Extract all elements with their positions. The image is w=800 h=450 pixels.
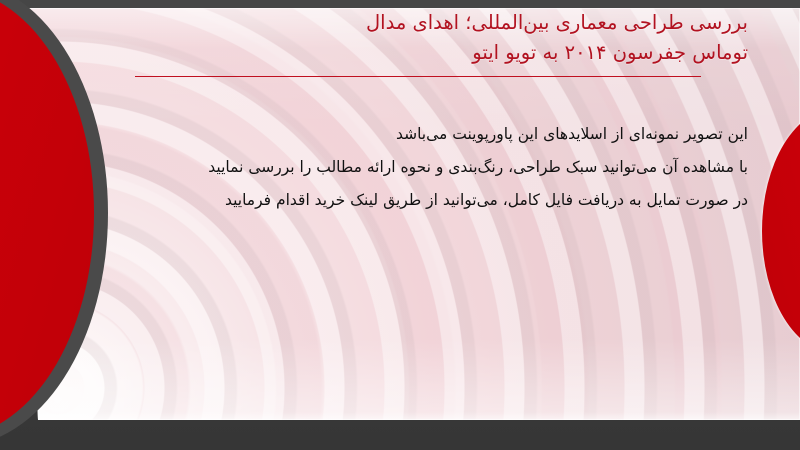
slide-title-line-1: بررسی طراحی معماری بین‌المللی؛ اهدای مدا… — [108, 8, 748, 38]
slide-title: بررسی طراحی معماری بین‌المللی؛ اهدای مدا… — [108, 8, 748, 68]
slide-body-line-3: در صورت تمایل به دریافت فایل کامل، می‌تو… — [88, 184, 748, 217]
slide-body-line-1: این تصویر نمونه‌ای از اسلایدهای این پاور… — [88, 118, 748, 151]
slide-body-line-2: با مشاهده آن می‌توانید سبک طراحی، رنگ‌بن… — [88, 151, 748, 184]
slide-body-text: این تصویر نمونه‌ای از اسلایدهای این پاور… — [88, 118, 748, 217]
presentation-slide: بررسی طراحی معماری بین‌المللی؛ اهدای مدا… — [0, 0, 800, 450]
slide-title-line-2: توماس جفرسون ۲۰۱۴ به تویو ایتو — [108, 38, 748, 68]
title-underline-rule — [135, 76, 701, 77]
